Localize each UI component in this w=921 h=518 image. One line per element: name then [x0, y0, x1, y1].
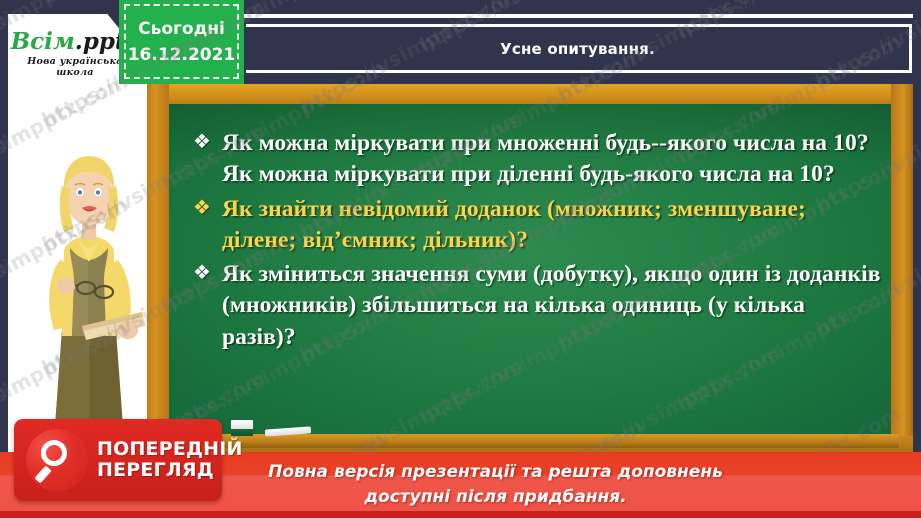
frame-left	[147, 84, 169, 454]
date-badge-value: 16.12.2021	[128, 42, 236, 68]
diamond-bullet-icon: ❖	[193, 194, 211, 220]
date-badge: Сьогодні 16.12.2021	[119, 0, 244, 84]
page-title: Усне опитування.	[500, 40, 655, 58]
logo-name: Всім	[11, 28, 75, 55]
purchase-banner-line2: доступні після придбання.	[268, 485, 723, 510]
frame-top	[147, 84, 913, 104]
chalk-eraser	[231, 420, 253, 436]
magnifier-icon	[26, 429, 88, 491]
list-item: ❖ Як знайти невідомий доданок (множник; …	[193, 194, 883, 257]
magnifier-lens	[41, 440, 67, 466]
preview-badge-line2: ПЕРЕГЛЯД	[97, 460, 243, 481]
banner-bottom-stripe	[0, 511, 921, 518]
bullet-text: Як знайти невідомий доданок (множник; зм…	[222, 194, 883, 257]
diamond-bullet-icon: ❖	[193, 128, 211, 154]
chalkboard: ❖ Як можна міркувати при множенні будь--…	[147, 84, 913, 454]
purchase-banner-line1: Повна версія презентації та решта доповн…	[268, 460, 723, 485]
diamond-bullet-icon: ❖	[193, 259, 211, 285]
date-badge-label: Сьогодні	[138, 16, 225, 42]
teacher-illustration	[24, 140, 154, 440]
preview-badge[interactable]: ПОПЕРЕДНІЙ ПЕРЕГЛЯД	[14, 419, 222, 501]
header-bar: Усне опитування.	[246, 24, 912, 73]
slide-root: Всім.pptx Нова українська школа Сьогодні…	[0, 0, 921, 518]
list-item: ❖ Як зміниться значення суми (добутку), …	[193, 259, 883, 353]
magnifier-handle	[34, 466, 51, 484]
bullet-text: Як можна міркувати при множенні будь--як…	[222, 128, 883, 191]
preview-badge-label: ПОПЕРЕДНІЙ ПЕРЕГЛЯД	[97, 439, 243, 480]
board-text-content: ❖ Як можна міркувати при множенні будь--…	[193, 128, 883, 356]
frame-right	[891, 84, 913, 454]
list-item: ❖ Як можна міркувати при множенні будь--…	[193, 128, 883, 191]
bullet-text: Як зміниться значення суми (добутку), як…	[222, 259, 883, 353]
preview-badge-line1: ПОПЕРЕДНІЙ	[97, 439, 243, 460]
purchase-banner-text: Повна версія презентації та решта доповн…	[198, 460, 723, 509]
